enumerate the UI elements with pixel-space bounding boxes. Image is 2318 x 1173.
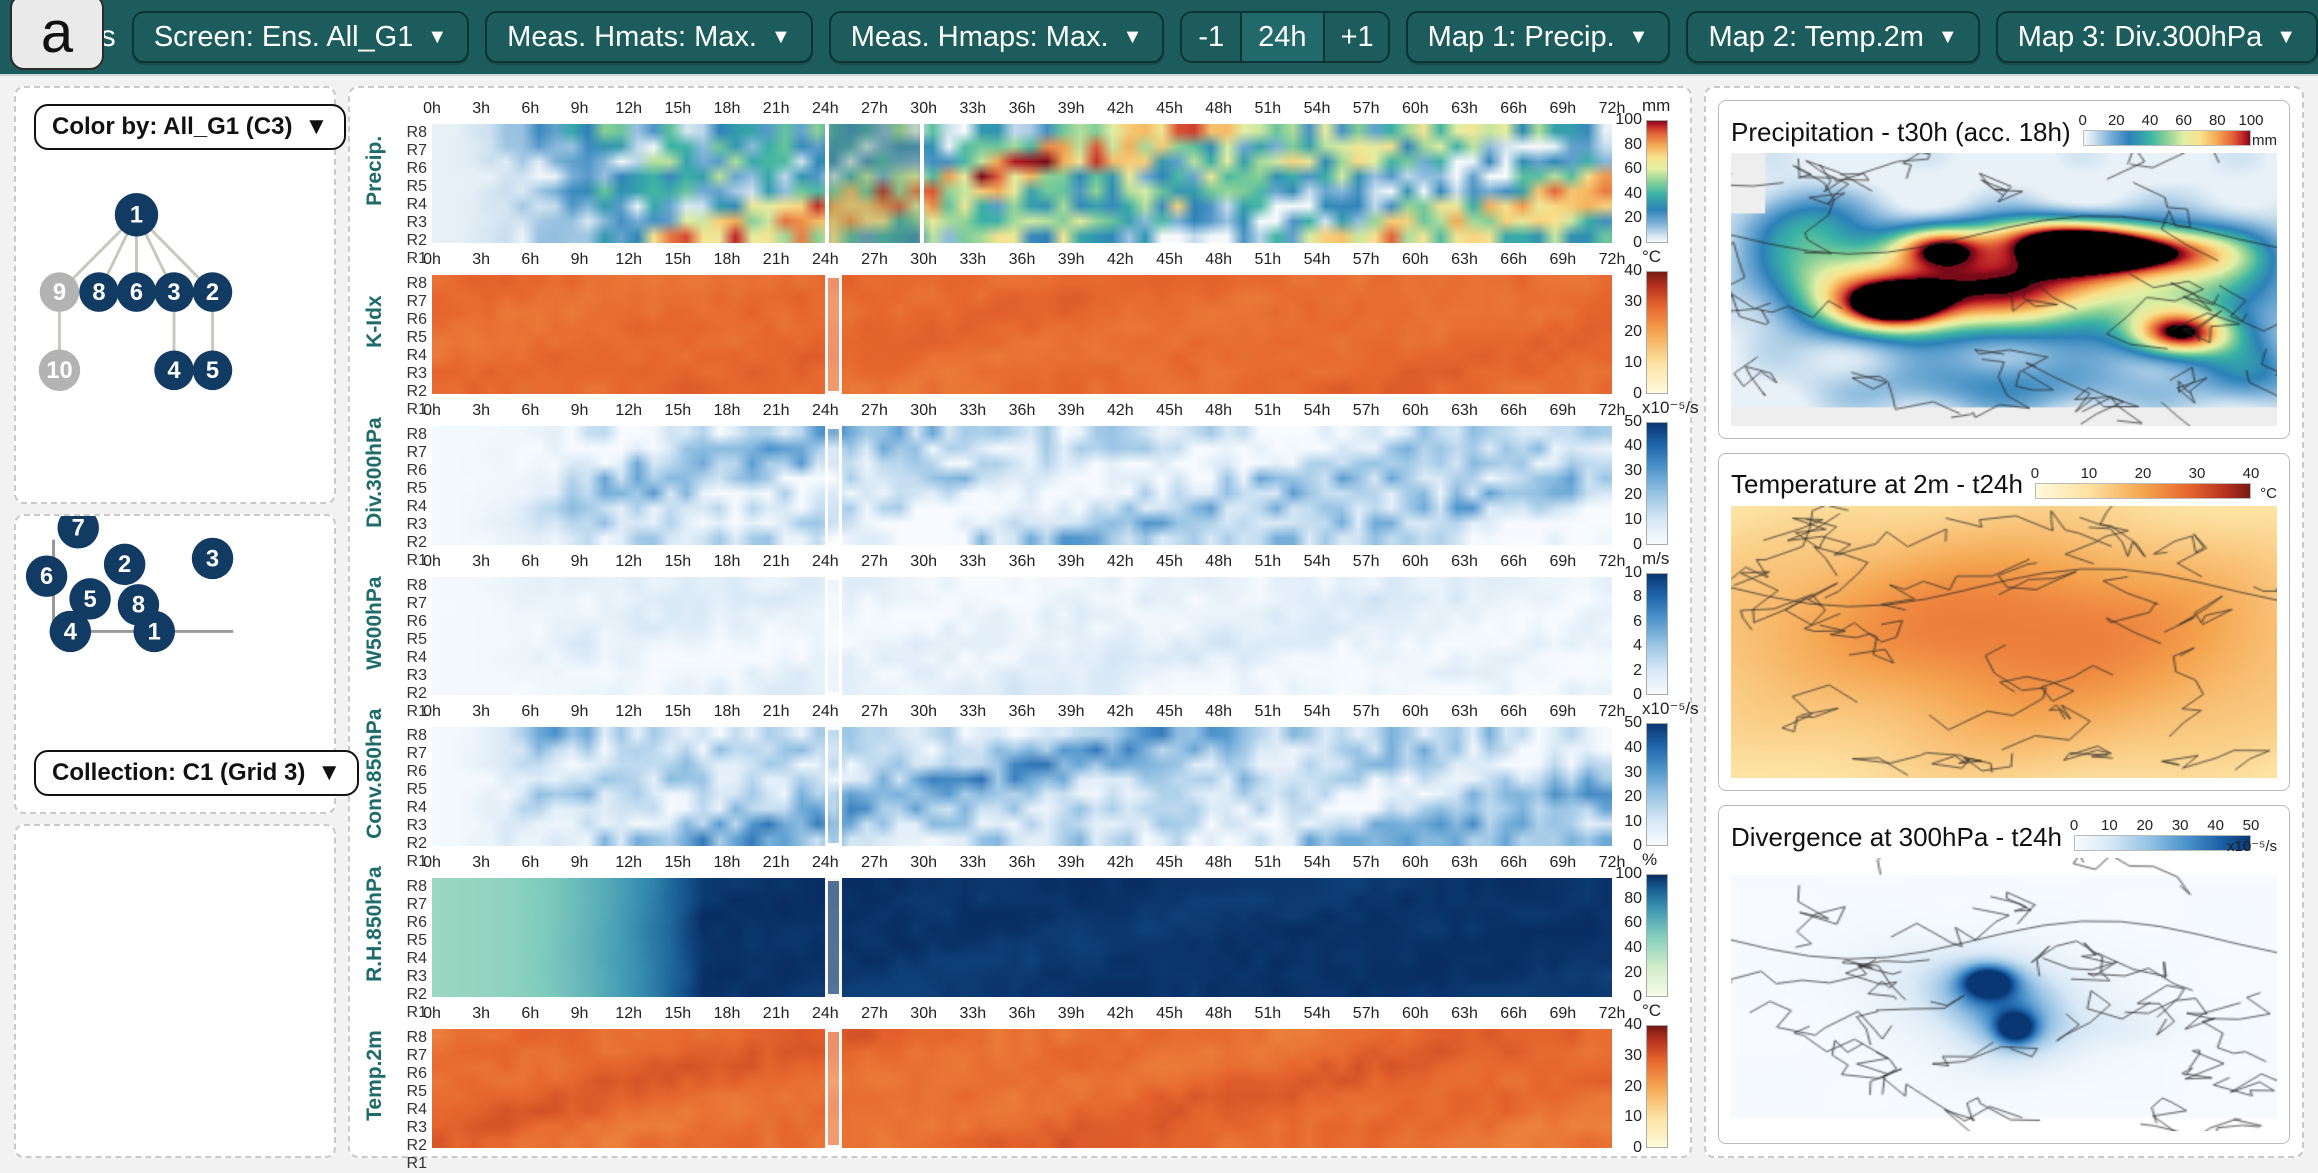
colorbar-tick-label: 50 — [1624, 413, 1642, 431]
heatmap-row-label: R2 — [392, 232, 427, 250]
heatmap-cells[interactable] — [432, 275, 1612, 394]
time-tick-label: 27h — [861, 100, 888, 118]
time-tick-label: 0h — [423, 553, 441, 571]
heatmap-time-axis: 0h3h6h9h12h15h18h21h24h27h30h33h36h39h42… — [432, 551, 1612, 577]
heatmap-time-axis: 0h3h6h9h12h15h18h21h24h27h30h33h36h39h42… — [432, 249, 1612, 275]
chevron-down-icon: ▼ — [1938, 27, 1958, 47]
map-header: Divergence at 300hPa - t24h01020304050x1… — [1731, 816, 2277, 858]
tree-node-label: 3 — [167, 280, 180, 306]
map-colorbar-tick-label: 0 — [2070, 817, 2078, 834]
map-colorbar-tick-label: 20 — [2136, 817, 2153, 834]
time-tick-label: 69h — [1549, 703, 1576, 721]
map-colorbar-gradient — [2083, 130, 2251, 146]
colorbar-tick-label: 10 — [1624, 564, 1642, 582]
chevron-down-icon: ▼ — [317, 759, 341, 787]
heatmap-row-label: R2 — [392, 685, 427, 703]
time-tick-label: 12h — [615, 553, 642, 571]
time-tick-label: 30h — [910, 1005, 937, 1023]
time-tick-label: 39h — [1058, 854, 1085, 872]
tree-node-6[interactable]: 6 — [117, 272, 157, 312]
scatter-point-label: 1 — [148, 619, 161, 645]
heatmap-plot-area: 0h3h6h9h12h15h18h21h24h27h30h33h36h39h42… — [432, 400, 1612, 545]
heatmap-row-label: R8 — [392, 1029, 427, 1047]
colorbar-tick-label: 20 — [1624, 323, 1642, 341]
empty-panel — [14, 824, 336, 1158]
time-tick-label: 6h — [521, 251, 539, 269]
chevron-down-icon: ▼ — [1123, 27, 1143, 47]
time-tick-label: 21h — [763, 703, 790, 721]
time-tick-label: 39h — [1058, 402, 1085, 420]
time-tick-label: 21h — [763, 1005, 790, 1023]
heatmap-row-label: R3 — [392, 667, 427, 685]
time-tick-label: 24h — [812, 1005, 839, 1023]
time-tick-label: 15h — [664, 854, 691, 872]
map-image[interactable] — [1731, 153, 2277, 426]
heatmap-row-label: R5 — [392, 781, 427, 799]
heatmap-row-label: R3 — [392, 516, 427, 534]
time-tick-label: 45h — [1156, 703, 1183, 721]
time-tick-label: 39h — [1058, 553, 1085, 571]
heatmap-variable-label: Precip. — [358, 98, 392, 243]
screen-dropdown-label: Screen: Ens. All_G1 — [154, 21, 414, 54]
heatmap-variable-label: Div.300hPa — [358, 400, 392, 545]
heatmap-row-label: R8 — [392, 878, 427, 896]
time-tick-label: 18h — [714, 553, 741, 571]
time-tick-label: 6h — [521, 553, 539, 571]
colorbar-tick-label: 40 — [1624, 437, 1642, 455]
time-tick-label: 69h — [1549, 100, 1576, 118]
heatmap-row-label: R6 — [392, 1065, 427, 1083]
tree-node-label: 1 — [130, 203, 143, 229]
map2-dropdown[interactable]: Map 2: Temp.2m ▼ — [1686, 11, 1979, 63]
map-card-1: Precipitation - t30h (acc. 18h)020406080… — [1718, 100, 2290, 439]
colorbar-ticks: 1086420 — [1612, 573, 1646, 696]
colorbar-tick-label: 20 — [1624, 486, 1642, 504]
map-colorbar-tick-label: 10 — [2081, 465, 2098, 482]
map-colorbar-tick-label: 30 — [2172, 817, 2189, 834]
chevron-down-icon: ▼ — [304, 113, 328, 141]
map-header: Precipitation - t30h (acc. 18h)020406080… — [1731, 111, 2277, 153]
tree-node-label: 8 — [92, 280, 105, 306]
time-tick-label: 6h — [521, 703, 539, 721]
heatmap-variable-label: R.H.850hPa — [358, 852, 392, 997]
tree-node-8[interactable]: 8 — [79, 272, 119, 312]
colorbar-ticks: 100806040200 — [1612, 874, 1646, 997]
map-card-2: Temperature at 2m - t24h010203040°C — [1718, 453, 2290, 792]
time-tick-label: 9h — [571, 703, 589, 721]
colorbar-tick-label: 40 — [1624, 939, 1642, 957]
time-tick-label: 0h — [423, 854, 441, 872]
colorbar-ticks: 50403020100 — [1612, 422, 1646, 545]
heatmap-row-labels: R8R7R6R5R4R3R2R1 — [392, 98, 432, 243]
map-colorbar-tick-label: 60 — [2175, 112, 2192, 129]
map-colorbar-tick-label: 10 — [2101, 817, 2118, 834]
heatmap-row-label: R8 — [392, 275, 427, 293]
heatmap-row-label: R8 — [392, 426, 427, 444]
time-tick-label: 45h — [1156, 100, 1183, 118]
colorbar-gradient — [1646, 573, 1668, 696]
time-tick-label: 24h — [812, 100, 839, 118]
chevron-down-icon: ▼ — [427, 27, 447, 47]
time-tick-label: 15h — [664, 553, 691, 571]
heatmap-row-label: R4 — [392, 799, 427, 817]
time-tick-label: 39h — [1058, 100, 1085, 118]
color-by-dropdown[interactable]: Color by: All_G1 (C3) ▼ — [34, 104, 346, 150]
time-step-increment-button[interactable]: +1 — [1323, 13, 1390, 61]
time-step-value: 24h — [1240, 13, 1322, 61]
heatmap-plot-area: 0h3h6h9h12h15h18h21h24h27h30h33h36h39h42… — [432, 701, 1612, 846]
colorbar-tick-label: 40 — [1624, 1016, 1642, 1034]
tree-node-label: 6 — [130, 280, 143, 306]
heatmap-row-label: R4 — [392, 950, 427, 968]
time-tick-label: 33h — [959, 1005, 986, 1023]
heatmap-row-labels: R8R7R6R5R4R3R2R1 — [392, 249, 432, 394]
tree-node-label: 5 — [206, 358, 219, 384]
time-tick-label: 15h — [664, 402, 691, 420]
colorbar-tick-label: 4 — [1633, 637, 1642, 655]
time-tick-label: 33h — [959, 100, 986, 118]
heatmap-row-label: R5 — [392, 631, 427, 649]
time-tick-label: 21h — [763, 854, 790, 872]
time-tick-label: 21h — [763, 100, 790, 118]
heatmap-cells[interactable] — [432, 1029, 1612, 1148]
dashboard-body: Color by: All_G1 (C3) ▼ 1986321045 72365… — [0, 76, 2318, 1172]
meas-hmats-dropdown[interactable]: Meas. Hmats: Max. ▼ — [485, 11, 813, 63]
scatter-point-4[interactable]: 4 — [50, 611, 91, 652]
time-tick-label: 42h — [1107, 251, 1134, 269]
heatmap-row-label: R7 — [392, 595, 427, 613]
heatmap-row-label: R2 — [392, 383, 427, 401]
time-tick-label: 63h — [1451, 703, 1478, 721]
time-tick-label: 54h — [1304, 703, 1331, 721]
time-tick-label: 48h — [1205, 402, 1232, 420]
time-tick-label: 27h — [861, 854, 888, 872]
scatter-point-label: 4 — [64, 619, 78, 645]
tree-node-5[interactable]: 5 — [193, 350, 233, 390]
time-stepper[interactable]: -1 24h +1 — [1180, 11, 1389, 63]
map-colorbar-tick-label: 50 — [2243, 817, 2260, 834]
heatmap-colorbar: °C403020100 — [1612, 1003, 1682, 1148]
time-tick-label: 66h — [1500, 1005, 1527, 1023]
time-tick-label: 27h — [861, 703, 888, 721]
time-tick-label: 45h — [1156, 1005, 1183, 1023]
scatter-point-7[interactable]: 7 — [57, 516, 98, 549]
time-tick-label: 0h — [423, 100, 441, 118]
colorbar-tick-label: 20 — [1624, 209, 1642, 227]
scatter-point-label: 2 — [118, 552, 131, 578]
time-tick-label: 18h — [714, 402, 741, 420]
time-tick-label: 57h — [1353, 703, 1380, 721]
scatter-point-2[interactable]: 2 — [104, 544, 145, 585]
time-tick-label: 36h — [1009, 703, 1036, 721]
heatmap-row-label: R6 — [392, 160, 427, 178]
heatmap-row-label: R4 — [392, 498, 427, 516]
heatmap-row-labels: R8R7R6R5R4R3R2R1 — [392, 701, 432, 846]
time-tick-label: 9h — [571, 553, 589, 571]
time-tick-label: 24h — [812, 553, 839, 571]
heatmap-row-w500hpa: W500hPaR8R7R6R5R4R3R2R10h3h6h9h12h15h18h… — [358, 551, 1682, 696]
meas-hmaps-label: Meas. Hmaps: Max. — [851, 21, 1109, 54]
meas-hmaps-dropdown[interactable]: Meas. Hmaps: Max. ▼ — [829, 11, 1165, 63]
colorbar-tick-label: 10 — [1624, 354, 1642, 372]
map-colorbar-tick-label: 40 — [2243, 465, 2260, 482]
time-tick-label: 3h — [472, 1005, 490, 1023]
time-tick-label: 69h — [1549, 854, 1576, 872]
chevron-down-icon: ▼ — [1629, 27, 1649, 47]
colorbar-tick-label: 40 — [1624, 185, 1642, 203]
time-tick-label: 57h — [1353, 553, 1380, 571]
colorbar-tick-label: 80 — [1624, 136, 1642, 154]
time-step-decrement-button[interactable]: -1 — [1182, 13, 1240, 61]
time-tick-label: 60h — [1402, 553, 1429, 571]
time-tick-label: 33h — [959, 251, 986, 269]
time-tick-label: 33h — [959, 553, 986, 571]
cluster-tree-graph[interactable]: 1986321045 — [16, 88, 334, 502]
time-tick-label: 42h — [1107, 553, 1134, 571]
collection-label: Collection: C1 (Grid 3) — [52, 759, 305, 787]
time-tick-label: 39h — [1058, 251, 1085, 269]
time-tick-label: 60h — [1402, 100, 1429, 118]
chevron-down-icon: ▼ — [771, 27, 791, 47]
time-tick-label: 24h — [812, 703, 839, 721]
map-colorbar-unit: °C — [2260, 485, 2277, 502]
map-colorbar-tick-label: 30 — [2189, 465, 2206, 482]
time-tick-label: 12h — [615, 251, 642, 269]
tree-node-10[interactable]: 10 — [39, 349, 80, 391]
time-tick-label: 63h — [1451, 251, 1478, 269]
time-tick-label: 60h — [1402, 854, 1429, 872]
time-tick-label: 18h — [714, 251, 741, 269]
map-colorbar-gradient — [2035, 483, 2251, 499]
time-tick-label: 66h — [1500, 553, 1527, 571]
figure-panel-label: a — [10, 0, 104, 70]
time-tick-label: 57h — [1353, 1005, 1380, 1023]
heatmap-row-label: R2 — [392, 986, 427, 1004]
meas-hmats-label: Meas. Hmats: Max. — [507, 21, 757, 54]
time-tick-label: 33h — [959, 854, 986, 872]
time-tick-label: 39h — [1058, 1005, 1085, 1023]
time-tick-label: 36h — [1009, 854, 1036, 872]
time-tick-label: 24h — [812, 854, 839, 872]
time-tick-label: 18h — [714, 100, 741, 118]
time-tick-label: 45h — [1156, 251, 1183, 269]
heatmap-colorbar: x10⁻⁵/s50403020100 — [1612, 701, 1682, 846]
time-tick-label: 30h — [910, 703, 937, 721]
heatmap-row-label: R8 — [392, 124, 427, 142]
heatmap-cells[interactable] — [432, 727, 1612, 846]
heatmap-time-axis: 0h3h6h9h12h15h18h21h24h27h30h33h36h39h42… — [432, 852, 1612, 878]
time-tick-label: 9h — [571, 854, 589, 872]
collection-dropdown[interactable]: Collection: C1 (Grid 3) ▼ — [34, 750, 359, 796]
heatmap-row-label: R8 — [392, 577, 427, 595]
heatmap-row-label: R7 — [392, 1047, 427, 1065]
map3-dropdown[interactable]: Map 3: Div.300hPa ▼ — [1996, 11, 2318, 63]
heatmap-variable-label: W500hPa — [358, 551, 392, 696]
heatmap-row-div300hpa: Div.300hPaR8R7R6R5R4R3R2R10h3h6h9h12h15h… — [358, 400, 1682, 545]
heatmap-row-precip: Precip.R8R7R6R5R4R3R2R10h3h6h9h12h15h18h… — [358, 98, 1682, 243]
map-colorbar: 020406080100mm — [2083, 112, 2277, 152]
colorbar-tick-label: 100 — [1615, 111, 1642, 129]
colorbar-tick-label: 40 — [1624, 739, 1642, 757]
heatmap-cells[interactable] — [432, 124, 1612, 243]
time-tick-label: 0h — [423, 703, 441, 721]
colorbar-tick-label: 100 — [1615, 865, 1642, 883]
tree-node-4[interactable]: 4 — [154, 350, 194, 390]
time-tick-label: 48h — [1205, 553, 1232, 571]
heatmap-time-axis: 0h3h6h9h12h15h18h21h24h27h30h33h36h39h42… — [432, 1003, 1612, 1029]
time-tick-label: 45h — [1156, 402, 1183, 420]
time-tick-label: 6h — [521, 854, 539, 872]
time-tick-label: 24h — [812, 402, 839, 420]
time-tick-label: 51h — [1254, 1005, 1281, 1023]
map-colorbar-tick-label: 40 — [2207, 817, 2224, 834]
map-colorbar-unit: x10⁻⁵/s — [2227, 837, 2277, 855]
time-tick-label: 48h — [1205, 1005, 1232, 1023]
heatmap-cells[interactable] — [432, 426, 1612, 545]
time-tick-label: 42h — [1107, 1005, 1134, 1023]
heatmap-row-label: R2 — [392, 1137, 427, 1155]
time-tick-label: 30h — [910, 251, 937, 269]
scatter-point-3[interactable]: 3 — [192, 538, 233, 579]
time-tick-label: 60h — [1402, 402, 1429, 420]
heatmap-matrix-panel: Precip.R8R7R6R5R4R3R2R10h3h6h9h12h15h18h… — [348, 86, 1692, 1158]
heatmap-row-label: R5 — [392, 329, 427, 347]
scatter-point-label: 7 — [72, 516, 85, 542]
time-tick-label: 48h — [1205, 251, 1232, 269]
tree-node-9[interactable]: 9 — [40, 272, 80, 312]
time-tick-label: 66h — [1500, 703, 1527, 721]
colorbar-ticks: 50403020100 — [1612, 723, 1646, 846]
heatmap-row-label: R4 — [392, 196, 427, 214]
heatmap-time-axis: 0h3h6h9h12h15h18h21h24h27h30h33h36h39h42… — [432, 400, 1612, 426]
time-tick-label: 3h — [472, 553, 490, 571]
tree-node-label: 4 — [167, 358, 181, 384]
time-tick-label: 39h — [1058, 703, 1085, 721]
heatmap-row-label: R4 — [392, 347, 427, 365]
heatmap-row-label: R6 — [392, 613, 427, 631]
colorbar-tick-label: 30 — [1624, 293, 1642, 311]
color-by-label: Color by: All_G1 (C3) — [52, 113, 292, 141]
tree-node-2[interactable]: 2 — [193, 272, 233, 312]
heatmap-row-conv850hpa: Conv.850hPaR8R7R6R5R4R3R2R10h3h6h9h12h15… — [358, 701, 1682, 846]
tree-node-label: 10 — [46, 358, 72, 384]
heatmap-time-axis: 0h3h6h9h12h15h18h21h24h27h30h33h36h39h42… — [432, 701, 1612, 727]
heatmap-row-labels: R8R7R6R5R4R3R2R1 — [392, 852, 432, 997]
chevron-down-icon: ▼ — [2276, 27, 2296, 47]
time-tick-label: 51h — [1254, 100, 1281, 118]
time-tick-label: 15h — [664, 251, 691, 269]
time-tick-label: 69h — [1549, 553, 1576, 571]
map1-dropdown[interactable]: Map 1: Precip. ▼ — [1406, 11, 1671, 63]
heatmap-cells[interactable] — [432, 577, 1612, 696]
heatmap-row-label: R5 — [392, 1083, 427, 1101]
colorbar-gradient — [1646, 1025, 1668, 1148]
map-colorbar-ticks: 020406080100 — [2083, 112, 2251, 128]
colorbar-tick-label: 0 — [1633, 1139, 1642, 1157]
colorbar-unit: °C — [1642, 1001, 1661, 1021]
time-tick-label: 0h — [423, 1005, 441, 1023]
colorbar-tick-label: 20 — [1624, 1078, 1642, 1096]
time-tick-label: 12h — [615, 1005, 642, 1023]
heatmap-row-label: R7 — [392, 896, 427, 914]
time-tick-label: 3h — [472, 251, 490, 269]
heatmap-cells[interactable] — [432, 878, 1612, 997]
time-tick-label: 15h — [664, 703, 691, 721]
heatmap-row-labels: R8R7R6R5R4R3R2R1 — [392, 551, 432, 696]
tree-node-3[interactable]: 3 — [154, 272, 194, 312]
heatmap-plot-area: 0h3h6h9h12h15h18h21h24h27h30h33h36h39h42… — [432, 1003, 1612, 1148]
colorbar-tick-label: 10 — [1624, 1108, 1642, 1126]
time-tick-label: 9h — [571, 100, 589, 118]
tree-node-label: 9 — [53, 280, 66, 306]
map-colorbar-tick-label: 40 — [2142, 112, 2159, 129]
heatmap-row-label: R7 — [392, 293, 427, 311]
heatmap-plot-area: 0h3h6h9h12h15h18h21h24h27h30h33h36h39h42… — [432, 551, 1612, 696]
heatmap-row-label: R3 — [392, 817, 427, 835]
map2-dropdown-label: Map 2: Temp.2m — [1708, 21, 1923, 54]
colorbar-gradient — [1646, 422, 1668, 545]
time-tick-label: 9h — [571, 1005, 589, 1023]
colorbar-tick-label: 40 — [1624, 262, 1642, 280]
scatter-point-1[interactable]: 1 — [134, 611, 175, 652]
time-tick-label: 51h — [1254, 251, 1281, 269]
map-colorbar: 01020304050x10⁻⁵/s — [2074, 817, 2277, 857]
time-tick-label: 63h — [1451, 854, 1478, 872]
time-tick-label: 21h — [763, 553, 790, 571]
scatter-point-label: 6 — [40, 564, 53, 590]
colorbar-tick-label: 10 — [1624, 511, 1642, 529]
heatmap-row-label: R2 — [392, 534, 427, 552]
time-tick-label: 27h — [861, 1005, 888, 1023]
map1-dropdown-label: Map 1: Precip. — [1428, 21, 1615, 54]
heatmap-row-label: R2 — [392, 835, 427, 853]
map-colorbar-tick-label: 20 — [2135, 465, 2152, 482]
time-tick-label: 51h — [1254, 703, 1281, 721]
time-tick-label: 9h — [571, 251, 589, 269]
time-tick-label: 42h — [1107, 854, 1134, 872]
time-tick-label: 30h — [910, 553, 937, 571]
time-tick-label: 42h — [1107, 703, 1134, 721]
tree-node-1[interactable]: 1 — [115, 193, 158, 237]
time-tick-label: 63h — [1451, 100, 1478, 118]
time-tick-label: 69h — [1549, 251, 1576, 269]
time-tick-label: 57h — [1353, 402, 1380, 420]
map-image[interactable] — [1731, 858, 2277, 1131]
time-tick-label: 3h — [472, 402, 490, 420]
heatmap-row-label: R6 — [392, 763, 427, 781]
map-colorbar-tick-label: 0 — [2031, 465, 2039, 482]
map-image[interactable] — [1731, 506, 2277, 779]
map-title: Divergence at 300hPa - t24h — [1731, 822, 2062, 853]
time-tick-label: 18h — [714, 854, 741, 872]
time-tick-label: 54h — [1304, 854, 1331, 872]
time-tick-label: 12h — [615, 854, 642, 872]
colorbar-tick-label: 2 — [1633, 662, 1642, 680]
time-tick-label: 48h — [1205, 703, 1232, 721]
heatmap-row-label: R6 — [392, 311, 427, 329]
heatmap-row-label: R3 — [392, 968, 427, 986]
screen-dropdown[interactable]: Screen: Ens. All_G1 ▼ — [132, 11, 469, 63]
colorbar-tick-label: 30 — [1624, 1047, 1642, 1065]
colorbar-tick-label: 8 — [1633, 588, 1642, 606]
time-tick-label: 57h — [1353, 854, 1380, 872]
time-tick-label: 57h — [1353, 100, 1380, 118]
colorbar-unit: % — [1642, 850, 1657, 870]
scatter-point-6[interactable]: 6 — [26, 555, 67, 596]
map-title: Precipitation - t30h (acc. 18h) — [1731, 117, 2071, 148]
heatmap-row-label: R1 — [392, 1155, 427, 1173]
time-tick-label: 42h — [1107, 402, 1134, 420]
